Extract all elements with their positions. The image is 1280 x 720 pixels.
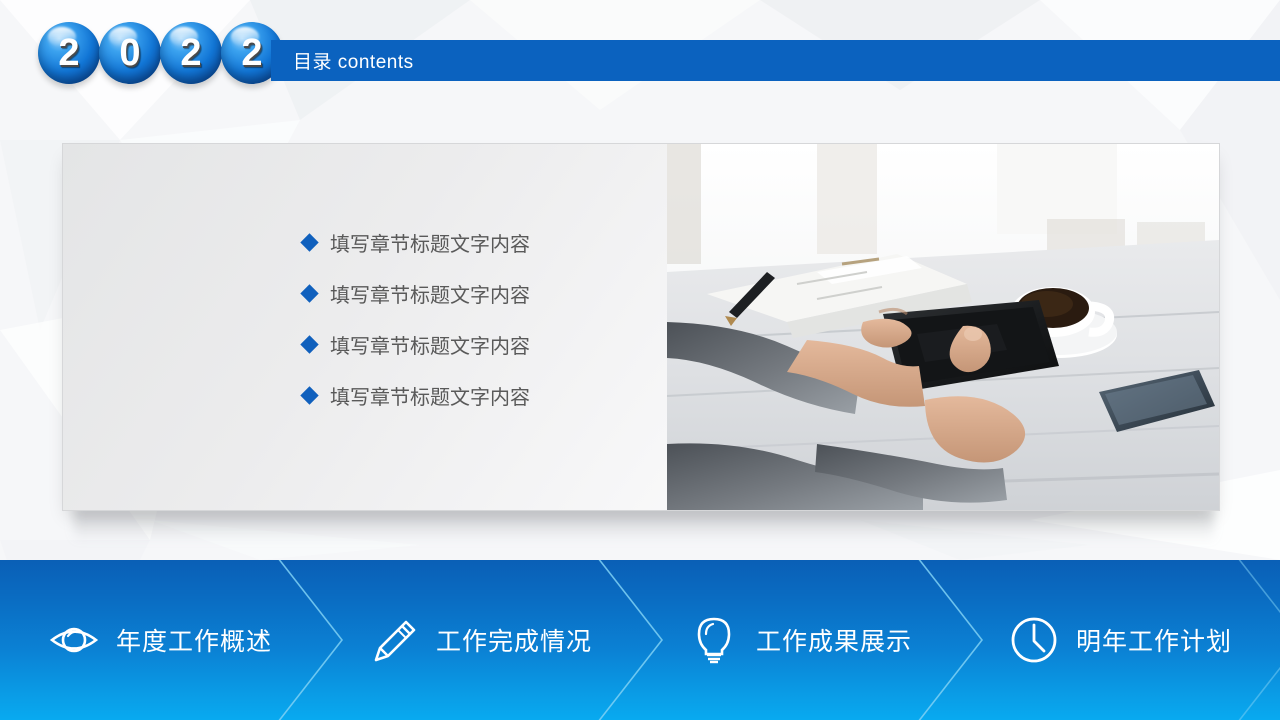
eye-icon [48, 614, 100, 666]
diamond-bullet-icon [300, 335, 318, 353]
list-item[interactable]: 填写章节标题文字内容 [303, 279, 530, 308]
year-ball-3: 2 [160, 22, 222, 84]
list-item-label: 填写章节标题文字内容 [330, 381, 530, 410]
list-item-label: 填写章节标题文字内容 [330, 228, 530, 257]
year-digit: 2 [180, 34, 201, 72]
nav-item-list: 年度工作概述 工作完成情况 工作成果展 [0, 560, 1280, 720]
nav-item-annual-overview[interactable]: 年度工作概述 [0, 560, 320, 720]
nav-item-work-completion[interactable]: 工作完成情况 [320, 560, 640, 720]
year-digit: 2 [58, 34, 79, 72]
pencil-icon [368, 614, 420, 666]
list-item-label: 填写章节标题文字内容 [330, 330, 530, 359]
section-title-bar: 目录 contents [271, 40, 1280, 81]
nav-item-label: 明年工作计划 [1076, 622, 1232, 658]
chapter-bullet-list: 填写章节标题文字内容 填写章节标题文字内容 填写章节标题文字内容 填写章节标题文… [303, 228, 530, 410]
year-badge-2022: 2 0 2 2 [38, 22, 280, 84]
year-ball-2: 0 [99, 22, 161, 84]
year-digit: 2 [241, 34, 262, 72]
clock-icon [1008, 614, 1060, 666]
desk-tablet-photo-graphic [667, 144, 1219, 510]
desk-tablet-photo [667, 144, 1219, 510]
year-digit: 0 [119, 34, 140, 72]
list-item-label: 填写章节标题文字内容 [330, 279, 530, 308]
list-item[interactable]: 填写章节标题文字内容 [303, 381, 530, 410]
diamond-bullet-icon [300, 233, 318, 251]
bottom-navigation-bar: 年度工作概述 工作完成情况 工作成果展 [0, 560, 1280, 720]
diamond-bullet-icon [300, 386, 318, 404]
nav-item-label: 工作成果展示 [756, 622, 912, 658]
year-ball-1: 2 [38, 22, 100, 84]
nav-item-label: 年度工作概述 [116, 622, 272, 658]
nav-item-label: 工作完成情况 [436, 622, 592, 658]
list-item[interactable]: 填写章节标题文字内容 [303, 228, 530, 257]
list-item[interactable]: 填写章节标题文字内容 [303, 330, 530, 359]
slide-canvas: 2 0 2 2 目录 contents 填写章节标题文字内容 [0, 0, 1280, 720]
slide-header: 2 0 2 2 目录 contents [0, 0, 1280, 100]
diamond-bullet-icon [300, 284, 318, 302]
lightbulb-icon [688, 614, 740, 666]
page-title: 目录 contents [271, 47, 414, 74]
nav-item-work-results[interactable]: 工作成果展示 [640, 560, 960, 720]
nav-item-next-year-plan[interactable]: 明年工作计划 [960, 560, 1280, 720]
